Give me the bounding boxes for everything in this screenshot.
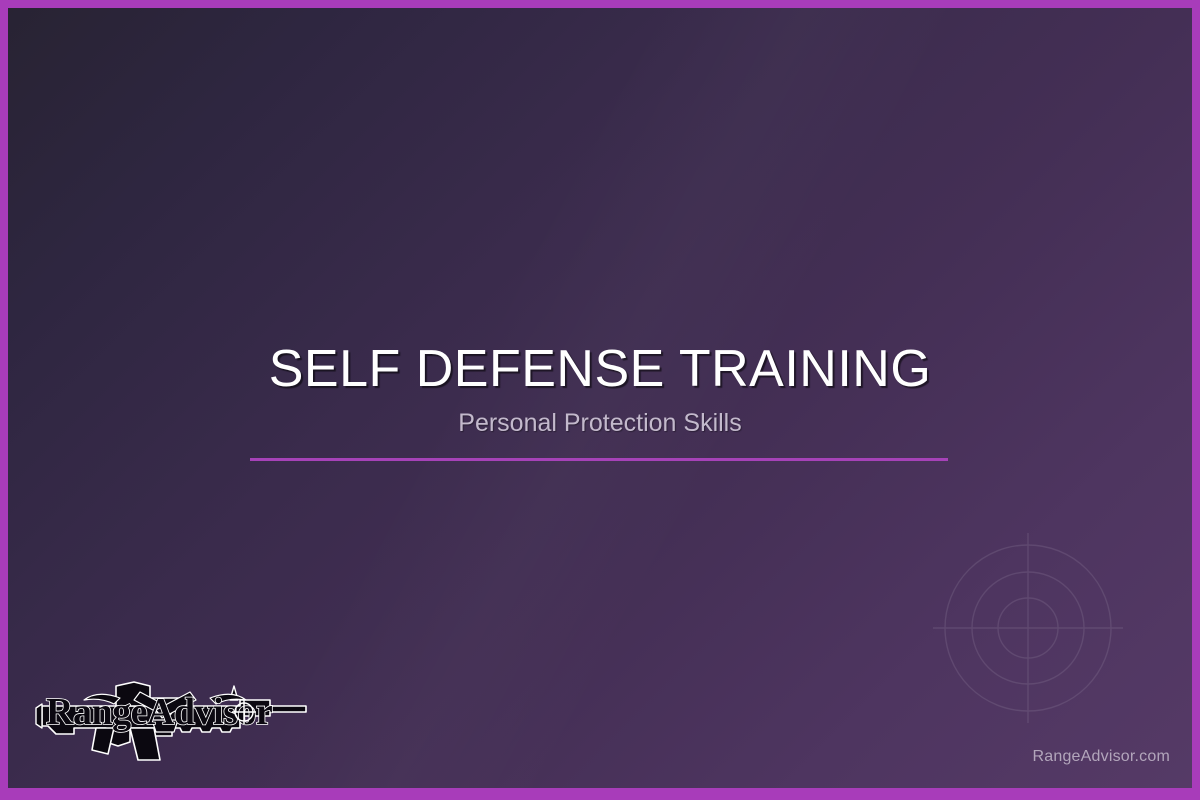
page-title: SELF DEFENSE TRAINING [8, 340, 1192, 398]
crosshair-icon [928, 528, 1128, 728]
title-block: SELF DEFENSE TRAINING Personal Protectio… [8, 340, 1192, 438]
brand-logo[interactable]: RangeAdvisor [34, 676, 314, 762]
page-subtitle: Personal Protection Skills [8, 408, 1192, 438]
slide-canvas: SELF DEFENSE TRAINING Personal Protectio… [8, 8, 1192, 788]
site-watermark: RangeAdvisor.com [1033, 748, 1171, 766]
title-divider [250, 458, 948, 461]
presentation-slide: SELF DEFENSE TRAINING Personal Protectio… [0, 0, 1200, 800]
